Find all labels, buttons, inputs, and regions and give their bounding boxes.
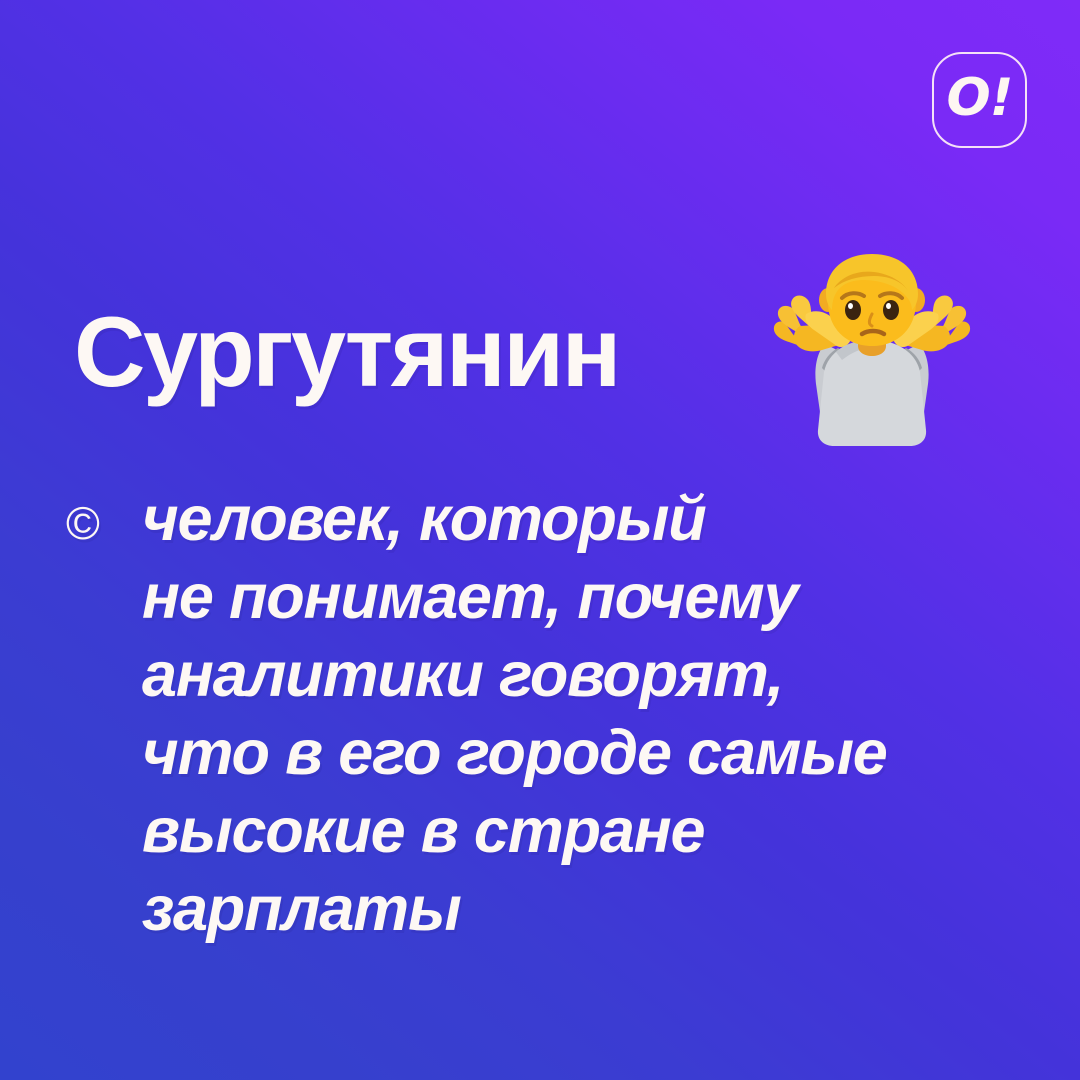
definition-line-6: зарплаты: [66, 870, 1026, 948]
page-title: Сургутянин: [74, 300, 619, 405]
definition-line-2: не понимает, почему: [66, 558, 1026, 636]
definition-line-1-text: человек, который: [142, 484, 706, 554]
definition-text: ©человек, который не понимает, почему ан…: [66, 480, 1026, 948]
social-card: О! Сургутянин: [0, 0, 1080, 1080]
definition-line-5: высокие в стране: [66, 792, 1026, 870]
brand-logo-badge[interactable]: О!: [932, 52, 1027, 148]
definition-line-4: что в его городе самые: [66, 714, 1026, 792]
copyright-icon: ©: [66, 484, 142, 562]
definition-line-1: ©человек, который: [66, 480, 1026, 558]
brand-logo-text: О!: [947, 72, 1013, 124]
person-shrugging-emoji: [762, 248, 982, 468]
definition-line-3: аналитики говорят,: [66, 636, 1026, 714]
